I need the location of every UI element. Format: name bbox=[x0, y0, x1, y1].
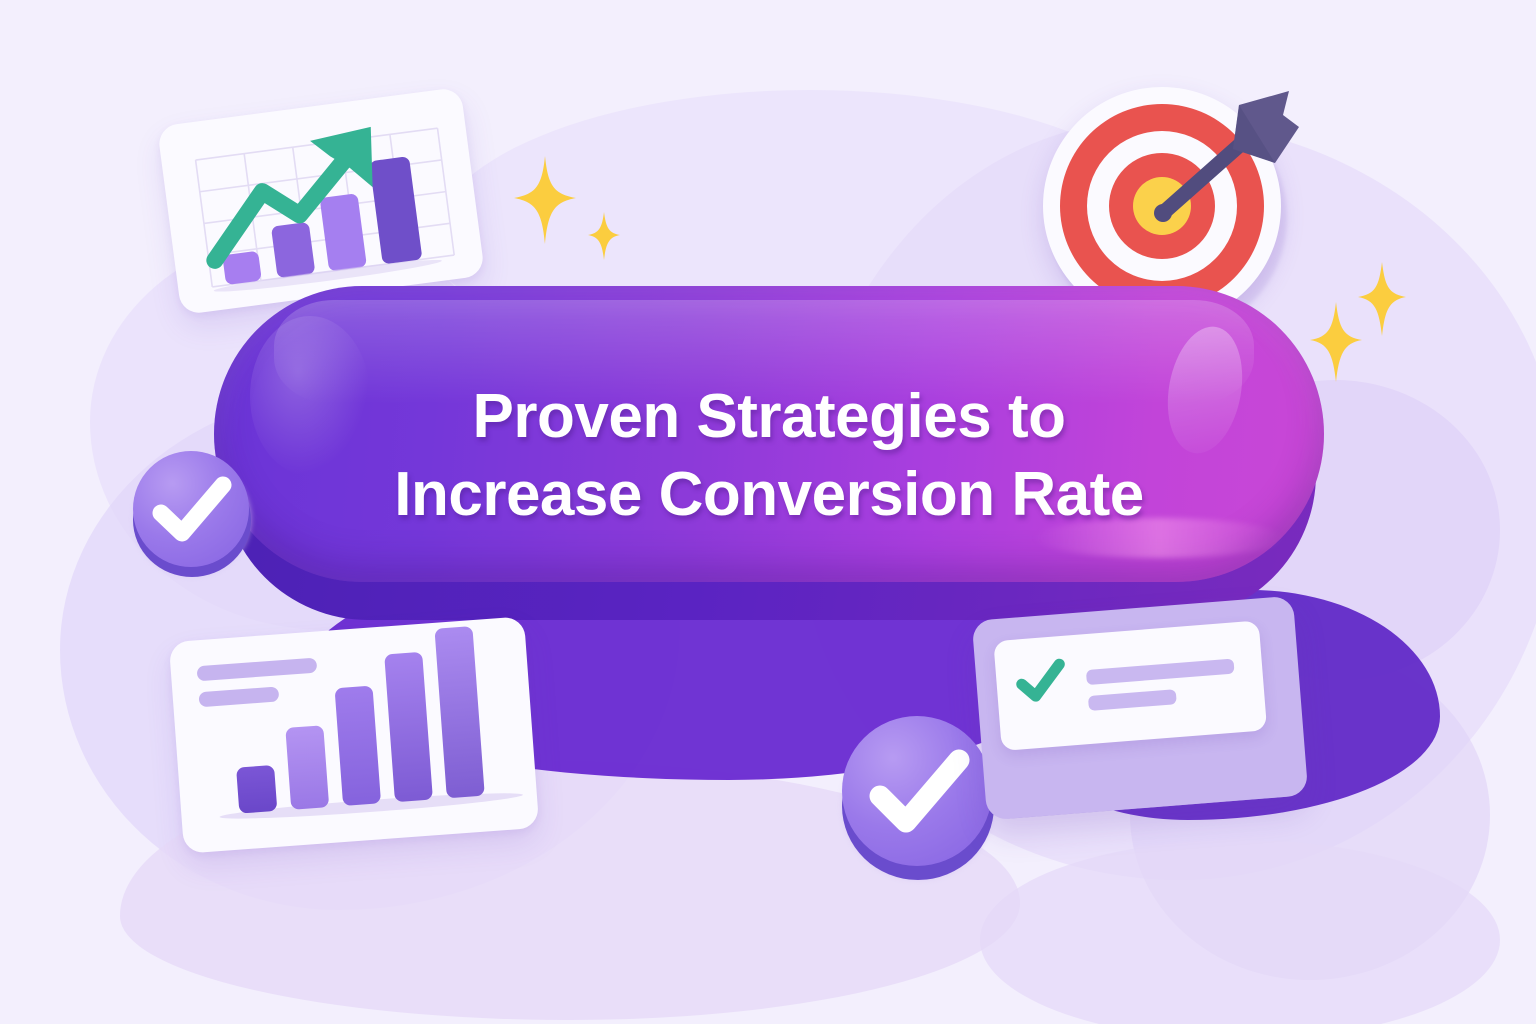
sparkle-right-lower-icon bbox=[1310, 302, 1362, 382]
page-title-line-2: Increase Conversion Rate bbox=[394, 459, 1144, 531]
sparkle-right-upper-icon bbox=[1358, 262, 1406, 336]
sparkle-top-left-large-icon bbox=[514, 156, 576, 244]
sparkle-top-left-small-icon bbox=[588, 212, 620, 260]
hero-title-pill: Proven Strategies to Increase Conversion… bbox=[214, 286, 1324, 626]
check-badge-left bbox=[131, 449, 253, 577]
checkmark-icon bbox=[864, 740, 974, 842]
page-title: Proven Strategies to Increase Conversion… bbox=[214, 286, 1324, 626]
trend-arrow-and-bars-icon bbox=[157, 87, 485, 315]
page-title-line-1: Proven Strategies to bbox=[473, 381, 1066, 453]
checkmark-icon bbox=[1013, 656, 1069, 708]
bar-chart-card bbox=[169, 616, 540, 854]
checkmark-icon bbox=[149, 469, 235, 549]
growth-chart-card bbox=[157, 87, 485, 315]
check-badge-center bbox=[838, 714, 998, 882]
bar-chart-icon bbox=[169, 616, 540, 854]
hero-banner: Proven Strategies to Increase Conversion… bbox=[0, 0, 1536, 1024]
checklist-card bbox=[972, 596, 1309, 821]
background-blob-bottom-right bbox=[980, 840, 1500, 1024]
